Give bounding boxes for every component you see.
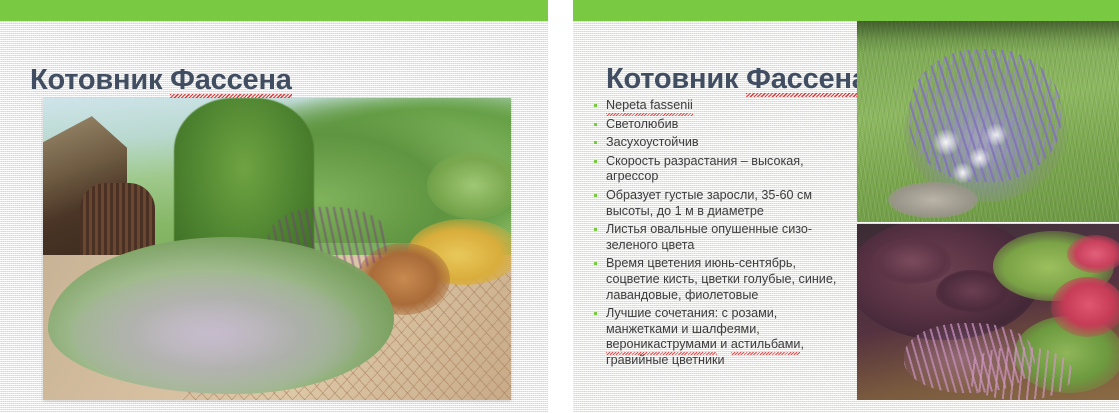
list-item: Засухоустойчив	[593, 135, 846, 151]
slide-left-green-header-bar	[0, 0, 548, 21]
garden-photo-artwork	[43, 98, 511, 400]
catmint-lawn-artwork	[857, 21, 1119, 222]
slide-right-title-misspelled-word: Фассена	[746, 63, 868, 96]
misspelled-word: вероникаструмами	[606, 337, 717, 353]
bullet-text-drought-tolerance: Засухоустойчив	[606, 135, 699, 149]
catmint-bed-artwork	[857, 224, 1119, 400]
catmint-on-lawn-photo	[857, 21, 1119, 222]
slide-right: Котовник Фассена Nepeta fassenii Светолю…	[573, 0, 1119, 413]
slide-left-title: Котовник Фассена	[30, 64, 292, 97]
list-item: Образует густые заросли, 35-60 см высоты…	[593, 188, 846, 219]
slide-right-title: Котовник Фассена	[606, 63, 868, 96]
plant-facts-bullet-list: Nepeta fassenii Светолюбив Засухоустойчи…	[593, 98, 846, 372]
bullet-text-companions: Лучшие сочетания: с розами, манжетками и…	[606, 306, 804, 367]
catmint-with-purple-foliage-photo	[857, 224, 1119, 400]
slide-left: Котовник Фассена	[0, 0, 548, 413]
list-item: Лучшие сочетания: с розами, манжетками и…	[593, 306, 846, 368]
list-item: Листья овальные опушенные сизо-зеленого …	[593, 222, 846, 253]
slide-left-title-misspelled-word: Фассена	[170, 64, 292, 97]
bullet-text-latin-name: Nepeta fassenii	[606, 98, 693, 114]
misspelled-word: астильбами	[731, 337, 801, 353]
slide-left-title-prefix: Котовник	[30, 64, 170, 96]
bullet-text-foliage: Листья овальные опушенные сизо-зеленого …	[606, 222, 812, 252]
bullet-text-growth-rate: Скорость разрастания – высокая, агрессор	[606, 154, 804, 184]
list-item: Время цветения июнь-сентябрь, соцветие к…	[593, 256, 846, 303]
bullet-text-bloom-time: Время цветения июнь-сентябрь, соцветие к…	[606, 256, 836, 301]
list-item: Nepeta fassenii	[593, 98, 846, 114]
list-item: Скорость разрастания – высокая, агрессор	[593, 154, 846, 185]
bullet-text-size: Образует густые заросли, 35-60 см высоты…	[606, 188, 812, 218]
slide-right-title-prefix: Котовник	[606, 63, 746, 95]
list-item: Светолюбив	[593, 117, 846, 133]
garden-border-with-catmint-photo	[43, 98, 511, 400]
bullet-text-light-requirement: Светолюбив	[606, 117, 678, 131]
slide-right-green-header-bar	[573, 0, 1119, 21]
